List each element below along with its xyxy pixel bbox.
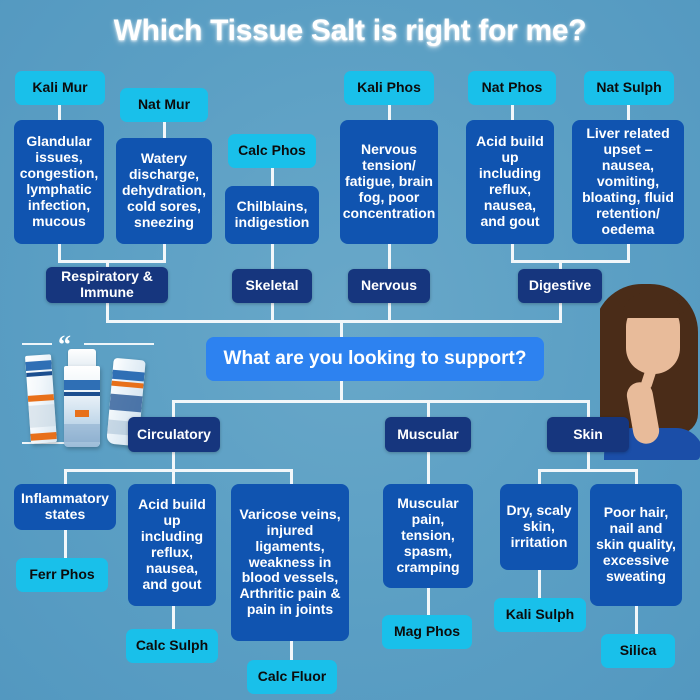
connector-muscular-up [427,400,430,417]
salt-box-nat-phos[interactable]: Nat Phos [468,71,556,105]
salt-box-silica[interactable]: Silica [601,634,675,668]
salt-box-nat-sulph[interactable]: Nat Sulph [584,71,674,105]
connector-nat-mur [163,121,166,139]
symptom-box-silica: Poor hair, nail and skin quality, excess… [590,484,682,606]
connector-nervous [388,243,391,270]
symptom-box-mag-phos: Muscular pain, tension, spasm, cramping [383,484,473,588]
category-box-circulatory[interactable]: Circulatory [128,417,220,452]
connector-skin-down [587,451,590,471]
category-box-respiratory[interactable]: Respiratory & Immune [46,267,168,303]
connector-calc-sulph [172,605,175,630]
connector-circulatory-bus [64,469,292,472]
connector-skin-bus [538,469,638,472]
salt-box-kali-phos[interactable]: Kali Phos [344,71,434,105]
connector-question-down [340,380,343,402]
symptom-box-calc-sulph: Acid build up including reflux, nausea, … [128,484,216,606]
connector-mag-phos [427,588,430,616]
connector-skin-up [587,400,590,417]
salt-box-nat-mur[interactable]: Nat Mur [120,88,208,122]
connector-resp-bar [58,260,166,263]
connector-question-up [340,320,343,338]
category-box-nervous[interactable]: Nervous [348,269,430,303]
connector-kali-sulph [538,570,541,599]
salt-box-kali-sulph[interactable]: Kali Sulph [494,598,586,632]
salt-box-kali-mur[interactable]: Kali Mur [15,71,105,105]
category-box-skeletal[interactable]: Skeletal [232,269,312,303]
connector-calc-fluor [290,640,293,661]
product-carton [25,354,57,444]
connector-muscular-down [427,451,430,485]
salt-box-ferr-phos[interactable]: Ferr Phos [16,558,108,592]
symptom-box-nat-phos: Acid build up including reflux, nausea, … [466,120,554,244]
connector-resp-down [106,302,109,322]
connector-silica [635,605,638,635]
symptom-box-nat-sulph: Liver related upset – nausea, vomiting, … [572,120,684,244]
connector-ferr-phos [64,530,67,559]
category-box-skin[interactable]: Skin [547,417,629,452]
connector-dig-down [559,302,562,322]
salt-box-calc-phos[interactable]: Calc Phos [228,134,316,168]
connector-lower-bus [172,400,589,403]
connector-calcsulph-stub [172,469,175,485]
connector-ferr-stub [64,469,67,485]
symptom-box-kali-sulph: Dry, scaly skin, irritation [500,484,578,570]
category-box-muscular[interactable]: Muscular [385,417,471,452]
product-bottle [62,349,102,447]
connector-calc-phos [271,167,274,187]
connector-nerv-down [388,302,391,322]
connector-skeletal [271,243,274,270]
salt-box-mag-phos[interactable]: Mag Phos [382,615,472,649]
connector-dig-bar [511,260,630,263]
symptom-box-kali-phos: Nervous tension/ fatigue, brain fog, poo… [340,120,438,244]
connector-calcfluor-stub [290,469,293,485]
connector-upper-bus [106,320,562,323]
infographic-canvas: Which Tissue Salt is right for me? “ ” [0,0,700,700]
symptom-box-ferr-phos: Inflammatory states [14,484,116,530]
page-title: Which Tissue Salt is right for me? [0,14,700,48]
symptom-box-nat-mur: Watery discharge, dehydration, cold sore… [116,138,212,244]
connector-silica-stub [635,469,638,485]
central-question-box[interactable]: What are you looking to support? [206,337,544,381]
symptom-box-calc-fluor: Varicose veins, injured ligaments, weakn… [231,484,349,641]
connector-kalisulph-stub [538,469,541,485]
connector-skel-down [271,302,274,322]
salt-box-calc-fluor[interactable]: Calc Fluor [247,660,337,694]
symptom-box-calc-phos: Chilblains, indigestion [225,186,319,244]
salt-box-calc-sulph[interactable]: Calc Sulph [126,629,218,663]
symptom-box-kali-mur: Glandular issues, congestion, lymphatic … [14,120,104,244]
category-box-digestive[interactable]: Digestive [518,269,602,303]
